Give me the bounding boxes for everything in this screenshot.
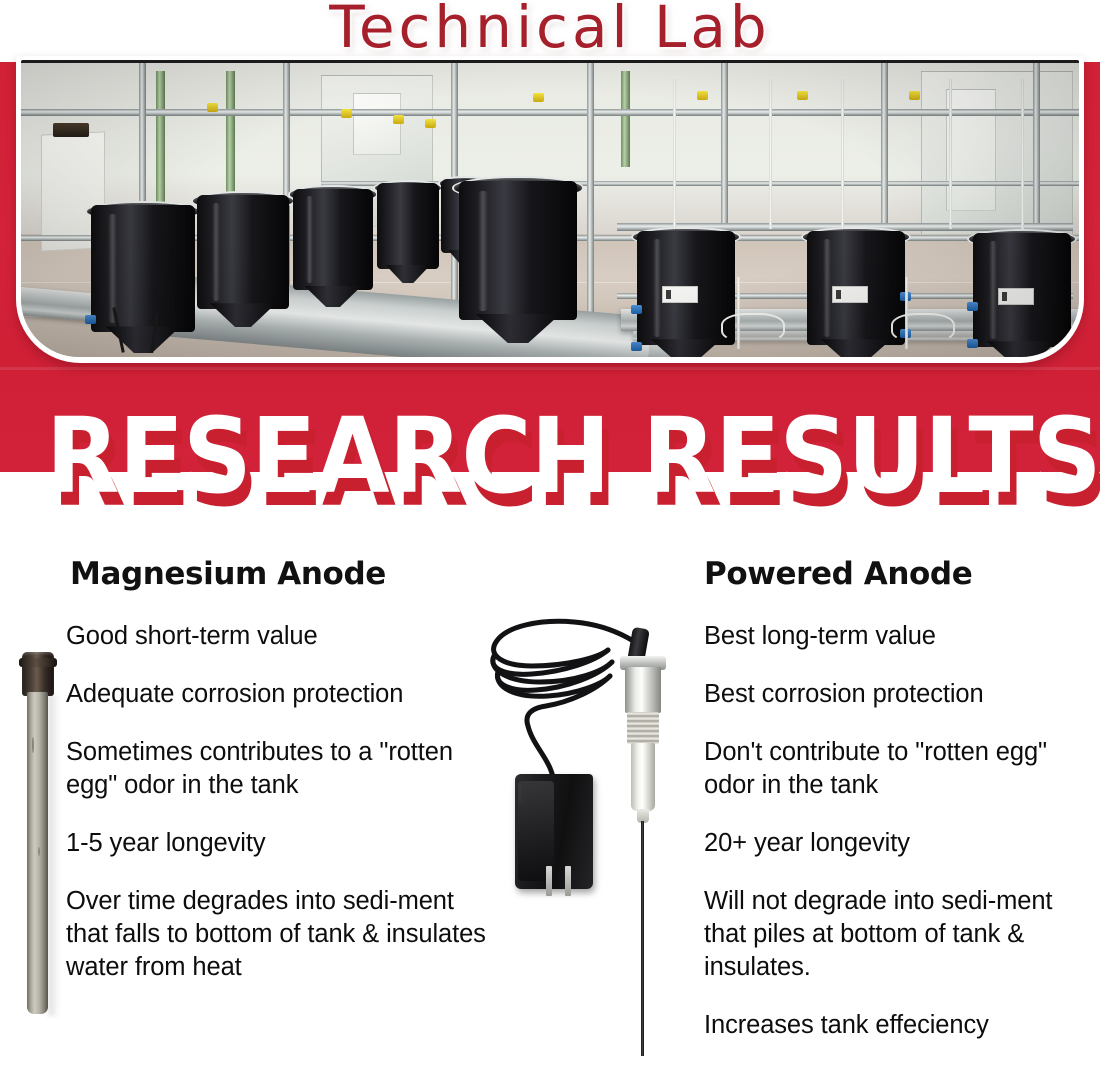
anode-hex-head-icon: [22, 652, 54, 696]
plug-prong-right: [565, 866, 571, 896]
bullet-list-powered: Best long-term value Best corrosion prot…: [640, 620, 1100, 1042]
magnesium-anode-rod-image: [18, 652, 58, 1022]
anode-rod-body: [27, 692, 48, 1014]
list-item: Good short-term value: [66, 620, 496, 653]
comparison-section: Magnesium Anode Good short-term value Ad…: [0, 556, 1100, 1075]
list-item: Will not degrade into sedi-ment that pil…: [704, 885, 1100, 984]
lab-photo-frame: [21, 60, 1079, 357]
page-title: Technical Lab: [0, 0, 1100, 60]
list-item: Adequate corrosion protection: [66, 678, 496, 711]
anode-threaded-section: [627, 712, 659, 744]
list-item: Best corrosion protection: [704, 678, 1100, 711]
list-item: 1-5 year longevity: [66, 827, 496, 860]
bullet-list-magnesium: Good short-term value Adequate corrosion…: [0, 620, 496, 984]
lab-photo-panel: [16, 56, 1084, 363]
powered-anode-product-image: [470, 566, 700, 1066]
list-item: Increases tank effeciency: [704, 1009, 1100, 1042]
anode-stainless-head: [625, 667, 661, 713]
column-magnesium-anode: Magnesium Anode Good short-term value Ad…: [0, 556, 500, 984]
heading-powered-anode: Powered Anode: [640, 556, 1100, 592]
plug-prong-left: [546, 866, 552, 896]
list-item: Sometimes contributes to a "rotten egg" …: [66, 736, 496, 802]
list-item: Don't contribute to "rotten egg" odor in…: [704, 736, 1100, 802]
list-item: Best long-term value: [704, 620, 1100, 653]
anode-titanium-rod: [641, 821, 644, 1056]
list-item: Over time degrades into sedi-ment that f…: [66, 885, 496, 984]
list-item: 20+ year longevity: [704, 827, 1100, 860]
anode-ceramic-body: [631, 743, 655, 811]
heading-magnesium-anode: Magnesium Anode: [0, 556, 500, 592]
lab-photo-image: [21, 63, 1079, 357]
column-powered-anode: Powered Anode Best long-term value Best …: [640, 556, 1100, 1042]
